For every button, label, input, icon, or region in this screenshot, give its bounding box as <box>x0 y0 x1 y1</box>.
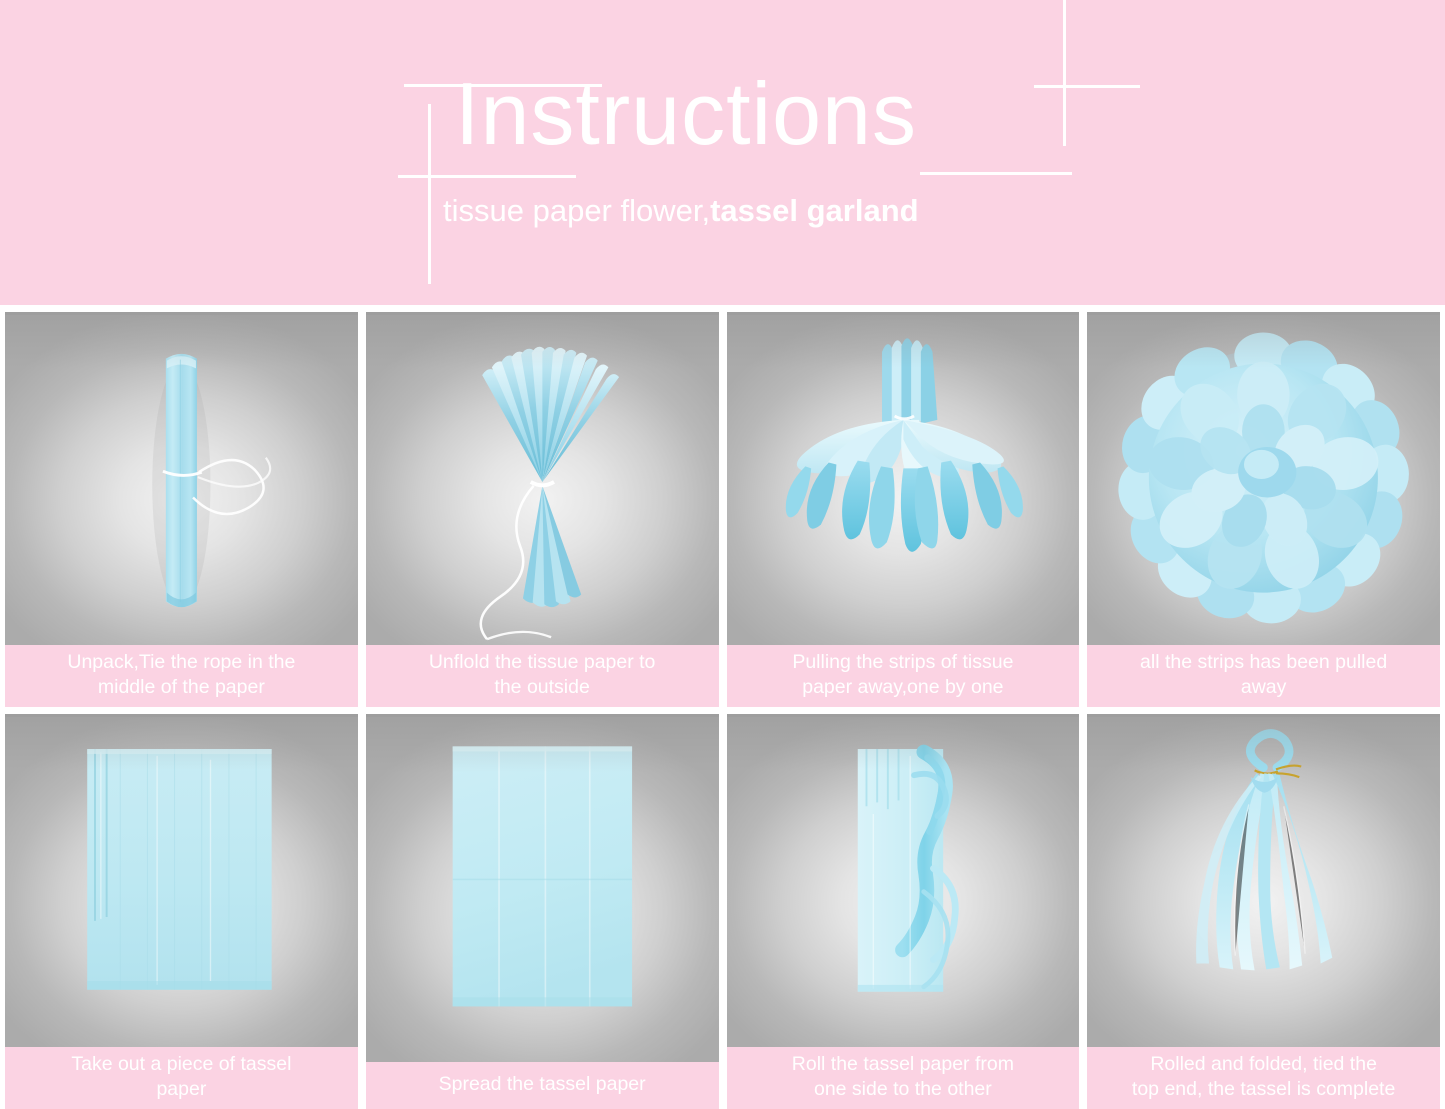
caption-text: Roll the tassel paper fromone side to th… <box>733 1052 1074 1102</box>
subtitle-part-plain: tissue paper flower, <box>443 193 710 228</box>
page-subtitle: tissue paper flower,tassel garland <box>443 193 919 229</box>
caption-line: paper <box>11 1077 352 1102</box>
step-photo-8 <box>1087 714 1440 1047</box>
art-flat-tassel-sheet <box>366 717 719 1062</box>
step-photo-2 <box>366 312 719 645</box>
caption-line: all the strips has been pulled <box>1093 650 1434 675</box>
step-photo-4 <box>1087 312 1440 645</box>
step-caption-1: Unpack,Tie the rope in themiddle of the … <box>5 645 358 707</box>
art-half-pulled-pompom <box>727 315 1080 645</box>
step-caption-2: Unflold the tissue paper tothe outside <box>366 645 719 707</box>
step-cell-2: Unflold the tissue paper tothe outside <box>366 312 719 707</box>
caption-line: one side to the other <box>733 1077 1074 1102</box>
caption-line: top end, the tassel is complete <box>1093 1077 1434 1102</box>
decor-line-vertical-left <box>428 104 431 284</box>
caption-text: Take out a piece of tasselpaper <box>11 1052 352 1102</box>
caption-text: Unflold the tissue paper tothe outside <box>372 650 713 700</box>
caption-line: middle of the paper <box>11 675 352 700</box>
step-photo-5 <box>5 714 358 1047</box>
caption-line: Pulling the strips of tissue <box>733 650 1074 675</box>
step-caption-3: Pulling the strips of tissuepaper away,o… <box>727 645 1080 707</box>
step-photo-3 <box>727 312 1080 645</box>
caption-line: the outside <box>372 675 713 700</box>
steps-grid: Unpack,Tie the rope in themiddle of the … <box>0 307 1445 1109</box>
step-caption-4: all the strips has been pulledaway <box>1087 645 1440 707</box>
page-title: Instructions <box>455 70 1055 158</box>
step-cell-4: all the strips has been pulledaway <box>1087 312 1440 707</box>
caption-line: Unflold the tissue paper to <box>372 650 713 675</box>
art-fringed-tassel-sheet <box>5 717 358 1047</box>
step-caption-8: Rolled and folded, tied thetop end, the … <box>1087 1047 1440 1109</box>
step-photo-7 <box>727 714 1080 1047</box>
caption-line: Take out a piece of tassel <box>11 1052 352 1077</box>
caption-line: Rolled and folded, tied the <box>1093 1052 1434 1077</box>
art-fanned-accordion-tied <box>366 315 719 645</box>
caption-line: away <box>1093 675 1434 700</box>
caption-text: Unpack,Tie the rope in themiddle of the … <box>11 650 352 700</box>
art-finished-pompom <box>1087 315 1440 645</box>
decor-line-left-cross <box>398 175 576 178</box>
step-photo-6 <box>366 714 719 1062</box>
step-cell-8: Rolled and folded, tied thetop end, the … <box>1087 714 1440 1109</box>
decor-line-vertical-right <box>1063 0 1066 146</box>
caption-text: all the strips has been pulledaway <box>1093 650 1434 700</box>
art-rolled-tassel-strip <box>727 717 1080 1047</box>
caption-text: Pulling the strips of tissuepaper away,o… <box>733 650 1074 700</box>
caption-line: paper away,one by one <box>733 675 1074 700</box>
step-cell-1: Unpack,Tie the rope in themiddle of the … <box>5 312 358 707</box>
caption-line: Spread the tassel paper <box>372 1072 713 1097</box>
step-photo-1 <box>5 312 358 645</box>
step-cell-5: Take out a piece of tasselpaper <box>5 714 358 1109</box>
step-caption-5: Take out a piece of tasselpaper <box>5 1047 358 1109</box>
art-finished-tassel <box>1087 717 1440 1047</box>
caption-text: Spread the tassel paper <box>372 1072 713 1097</box>
caption-line: Unpack,Tie the rope in the <box>11 650 352 675</box>
caption-text: Rolled and folded, tied thetop end, the … <box>1093 1052 1434 1102</box>
art-folded-strip-with-rope <box>5 315 358 645</box>
subtitle-part-bold: tassel garland <box>710 193 918 228</box>
step-cell-6: Spread the tassel paper <box>366 714 719 1109</box>
step-caption-7: Roll the tassel paper fromone side to th… <box>727 1047 1080 1109</box>
decor-line-bottom-right <box>920 172 1072 175</box>
header-banner: Instructions tissue paper flower,tassel … <box>0 0 1445 305</box>
step-cell-7: Roll the tassel paper fromone side to th… <box>727 714 1080 1109</box>
step-cell-3: Pulling the strips of tissuepaper away,o… <box>727 312 1080 707</box>
instruction-sheet: Instructions tissue paper flower,tassel … <box>0 0 1445 1109</box>
step-caption-6: Spread the tassel paper <box>366 1062 719 1109</box>
caption-line: Roll the tassel paper from <box>733 1052 1074 1077</box>
